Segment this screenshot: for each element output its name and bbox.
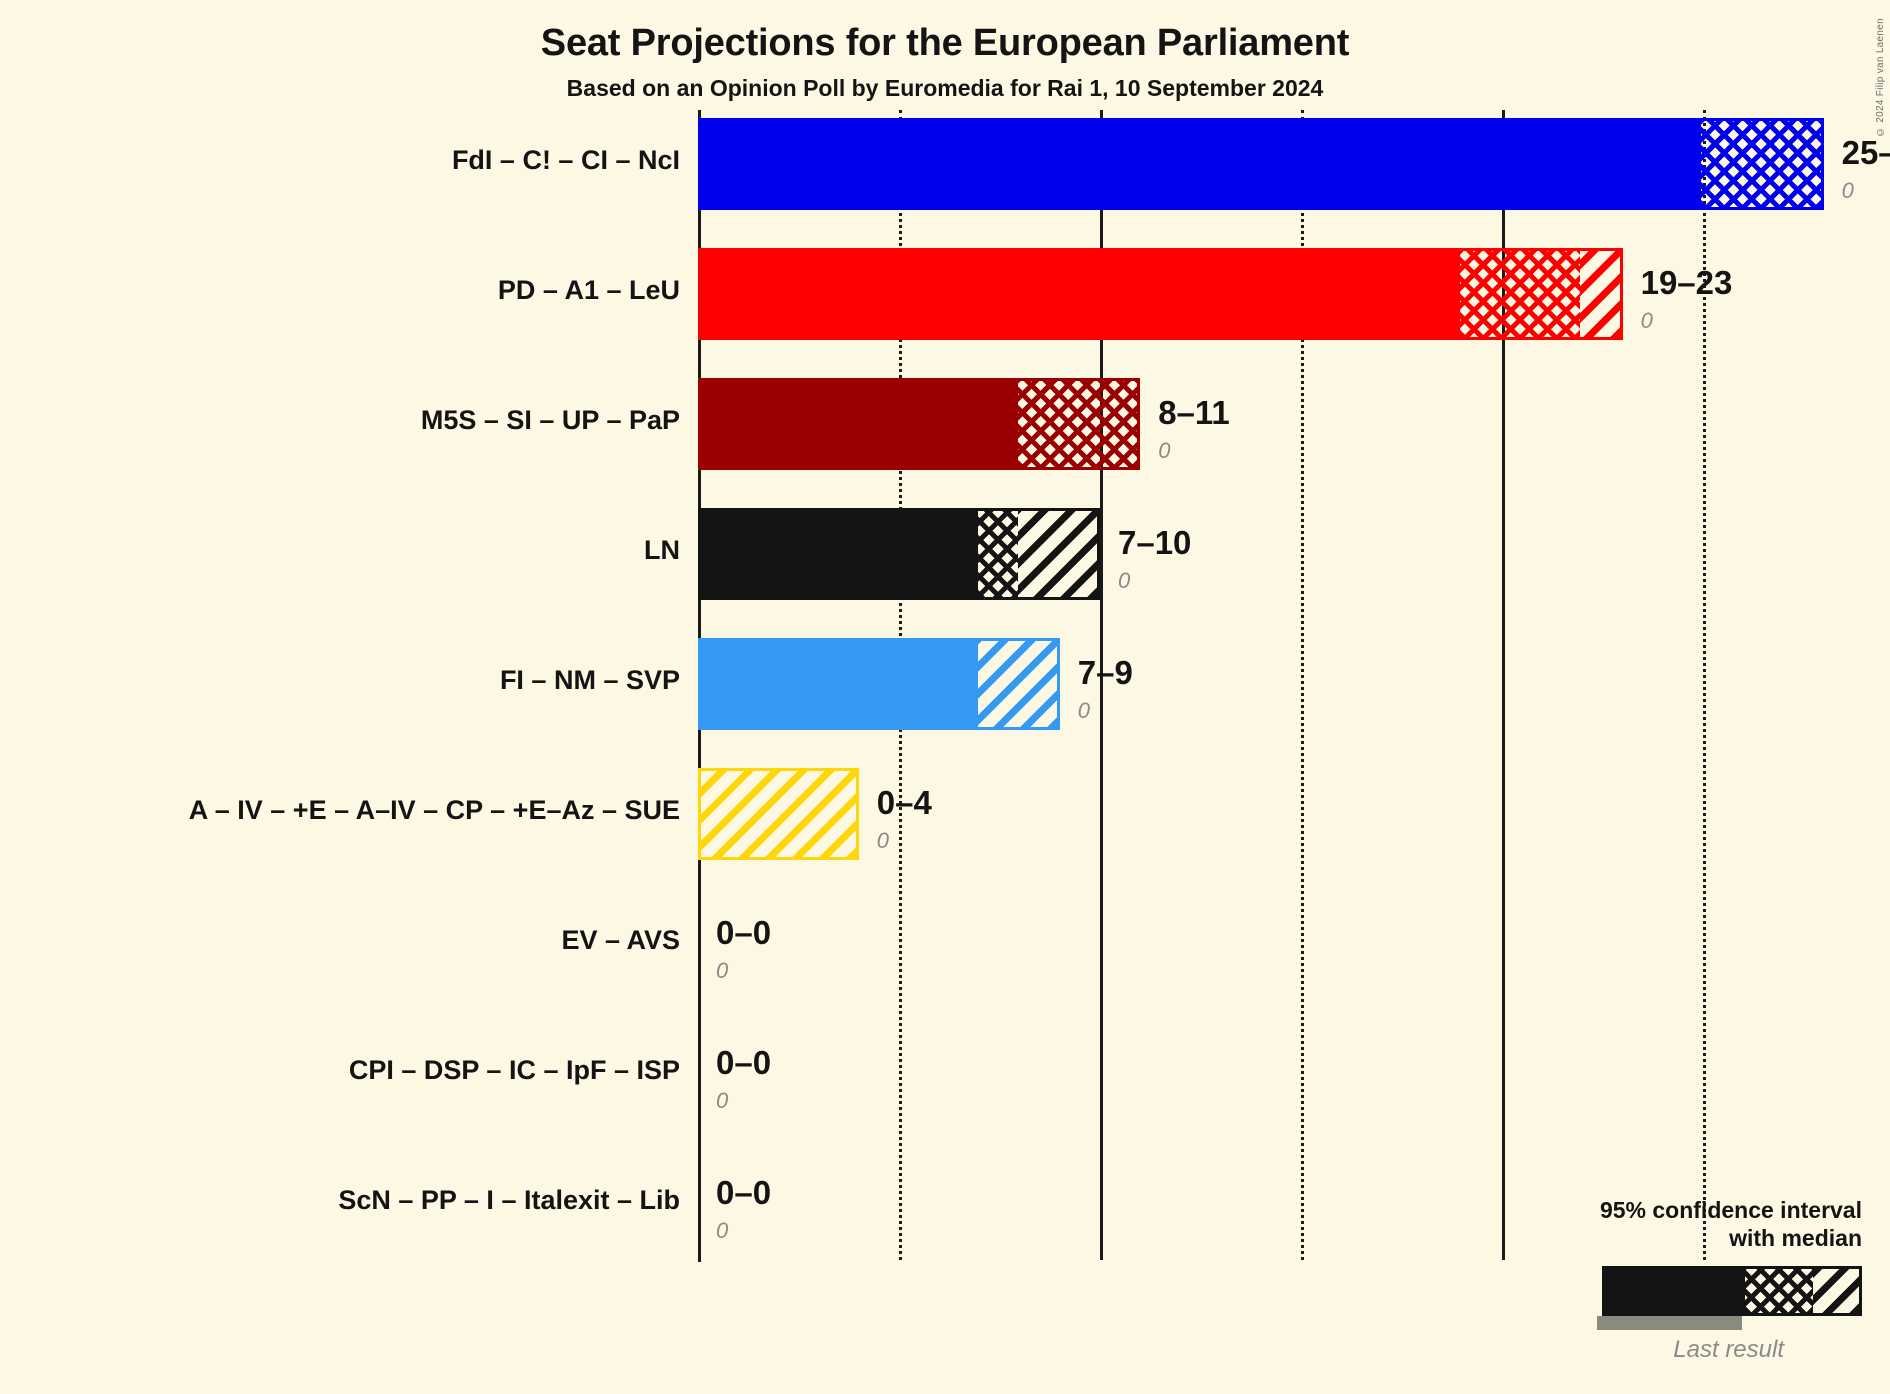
value-label-2: 19–23	[1641, 264, 1733, 302]
bar-5	[698, 638, 1060, 730]
value-label-1: 25–28	[1842, 134, 1890, 172]
row-label-8: CPI – DSP – IC – IpF – ISP	[349, 1055, 680, 1086]
bar-segment-median-crosshatch	[1460, 251, 1580, 337]
chart-row: EV – AVS0–00	[0, 898, 1890, 990]
last-result-4: 0	[1118, 568, 1130, 594]
legend-line-1: 95% confidence interval	[1442, 1196, 1862, 1224]
value-label-6: 0–4	[877, 784, 932, 822]
legend-sample-bar	[1602, 1266, 1862, 1316]
last-result-6: 0	[877, 828, 889, 854]
value-label-4: 7–10	[1118, 524, 1191, 562]
chart-row: A – IV – +E – A–IV – CP – +E–Az – SUE0–4…	[0, 768, 1890, 860]
row-label-6: A – IV – +E – A–IV – CP – +E–Az – SUE	[189, 795, 680, 826]
legend-last-result-label: Last result	[1442, 1336, 1784, 1364]
row-label-4: LN	[644, 535, 680, 566]
last-result-1: 0	[1842, 178, 1854, 204]
chart-row: M5S – SI – UP – PaP8–110	[0, 378, 1890, 470]
bar-2	[698, 248, 1623, 340]
last-result-7: 0	[716, 958, 728, 984]
bar-segment-interval-hatch	[1018, 511, 1097, 597]
bar-segment-solid	[701, 641, 978, 727]
legend-segment-solid	[1605, 1269, 1745, 1313]
value-label-3: 8–11	[1158, 394, 1230, 432]
chart-row: LN7–100	[0, 508, 1890, 600]
bar-segment-interval-hatch	[978, 641, 1057, 727]
last-result-2: 0	[1641, 308, 1653, 334]
value-label-8: 0–0	[716, 1044, 771, 1082]
bar-4	[698, 508, 1100, 600]
chart-row: CPI – DSP – IC – IpF – ISP0–00	[0, 1028, 1890, 1120]
legend-last-result-bar	[1597, 1316, 1742, 1330]
chart-row: PD – A1 – LeU19–230	[0, 248, 1890, 340]
last-result-3: 0	[1158, 438, 1170, 464]
bar-segment-solid	[701, 121, 1701, 207]
bar-segment-median-crosshatch	[1701, 121, 1821, 207]
row-label-9: ScN – PP – I – Italexit – Lib	[338, 1185, 680, 1216]
last-result-5: 0	[1078, 698, 1090, 724]
bar-segment-median-crosshatch	[978, 511, 1018, 597]
legend-line-2: with median	[1442, 1224, 1862, 1252]
bar-1	[698, 118, 1824, 210]
bar-segment-interval-hatch	[1580, 251, 1620, 337]
plot-area: FdI – C! – CI – NcI25–280PD – A1 – LeU19…	[0, 0, 1890, 1394]
value-label-5: 7–9	[1078, 654, 1133, 692]
value-label-7: 0–0	[716, 914, 771, 952]
legend-segment-crosshatch	[1745, 1269, 1814, 1313]
row-label-2: PD – A1 – LeU	[498, 275, 680, 306]
chart-row: FI – NM – SVP7–90	[0, 638, 1890, 730]
row-label-7: EV – AVS	[561, 925, 680, 956]
chart-legend: 95% confidence interval with median Last…	[1442, 1196, 1862, 1364]
bar-segment-solid	[701, 381, 1018, 467]
bar-segment-interval-hatch	[701, 771, 856, 857]
last-result-9: 0	[716, 1218, 728, 1244]
legend-segment-hatch	[1813, 1269, 1859, 1313]
row-label-5: FI – NM – SVP	[500, 665, 680, 696]
bar-segment-solid	[701, 251, 1460, 337]
bar-segment-solid	[701, 511, 978, 597]
bar-3	[698, 378, 1140, 470]
bar-segment-median-crosshatch	[1018, 381, 1137, 467]
chart-row: FdI – C! – CI – NcI25–280	[0, 118, 1890, 210]
value-label-9: 0–0	[716, 1174, 771, 1212]
row-label-3: M5S – SI – UP – PaP	[421, 405, 680, 436]
row-label-1: FdI – C! – CI – NcI	[452, 145, 680, 176]
last-result-8: 0	[716, 1088, 728, 1114]
chart-root: Seat Projections for the European Parlia…	[0, 0, 1890, 1394]
bar-6	[698, 768, 859, 860]
